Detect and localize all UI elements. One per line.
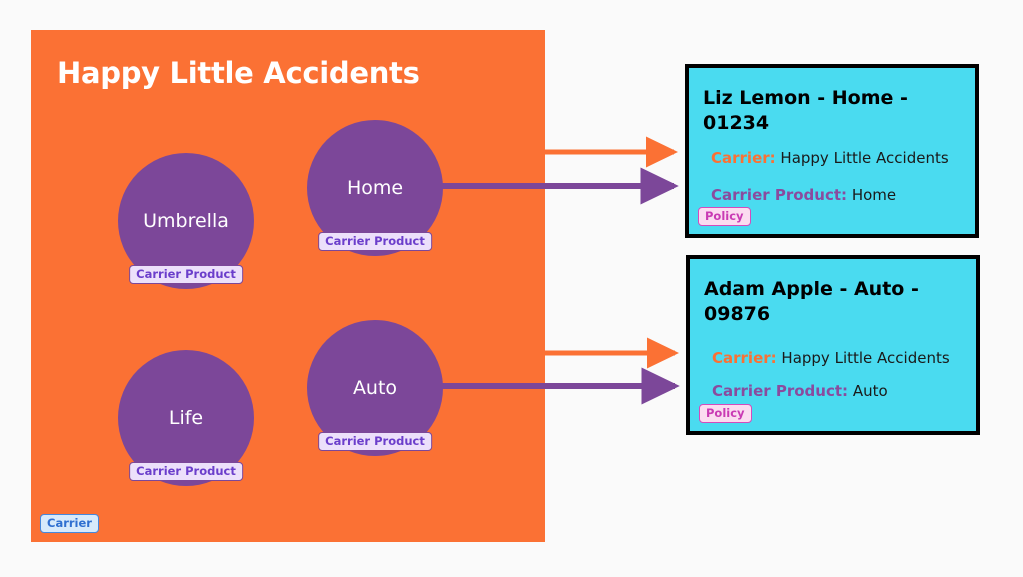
- policy-product-value-1: Home: [852, 186, 896, 204]
- product-label-auto: Auto: [353, 378, 397, 398]
- policy-card-1[interactable]: Liz Lemon - Home - 01234 Carrier: Happy …: [685, 64, 979, 238]
- policy-card-2[interactable]: Adam Apple - Auto - 09876 Carrier: Happy…: [686, 255, 980, 435]
- policy-product-row-2: Carrier Product: Auto: [712, 382, 888, 400]
- policy-type-badge-2: Policy: [699, 404, 752, 423]
- policy-title-2: Adam Apple - Auto - 09876: [704, 277, 954, 327]
- policy-product-key-1: Carrier Product:: [711, 186, 847, 204]
- policy-type-badge-1: Policy: [698, 207, 751, 226]
- policy-carrier-key-2: Carrier:: [712, 349, 777, 367]
- carrier-type-badge: Carrier: [40, 514, 99, 533]
- product-label-umbrella: Umbrella: [143, 211, 229, 231]
- policy-product-key-2: Carrier Product:: [712, 382, 848, 400]
- carrier-product-node-home[interactable]: Home Carrier Product: [307, 120, 443, 256]
- carrier-container[interactable]: Happy Little Accidents Umbrella Carrier …: [31, 30, 545, 542]
- product-badge-life: Carrier Product: [129, 462, 243, 481]
- policy-carrier-row-1: Carrier: Happy Little Accidents: [711, 149, 949, 167]
- product-badge-home: Carrier Product: [318, 232, 432, 251]
- policy-carrier-row-2: Carrier: Happy Little Accidents: [712, 349, 950, 367]
- policy-product-value-2: Auto: [853, 382, 888, 400]
- product-badge-auto: Carrier Product: [318, 432, 432, 451]
- carrier-title: Happy Little Accidents: [57, 56, 420, 90]
- policy-carrier-value-1: Happy Little Accidents: [780, 149, 948, 167]
- policy-title-1: Liz Lemon - Home - 01234: [703, 86, 953, 136]
- policy-product-row-1: Carrier Product: Home: [711, 186, 896, 204]
- product-badge-umbrella: Carrier Product: [129, 265, 243, 284]
- product-label-life: Life: [169, 408, 203, 428]
- diagram-canvas: Happy Little Accidents Umbrella Carrier …: [0, 0, 1023, 577]
- carrier-product-node-life[interactable]: Life Carrier Product: [118, 350, 254, 486]
- carrier-product-node-umbrella[interactable]: Umbrella Carrier Product: [118, 153, 254, 289]
- policy-carrier-value-2: Happy Little Accidents: [781, 349, 949, 367]
- policy-carrier-key-1: Carrier:: [711, 149, 776, 167]
- product-label-home: Home: [347, 178, 403, 198]
- carrier-product-node-auto[interactable]: Auto Carrier Product: [307, 320, 443, 456]
